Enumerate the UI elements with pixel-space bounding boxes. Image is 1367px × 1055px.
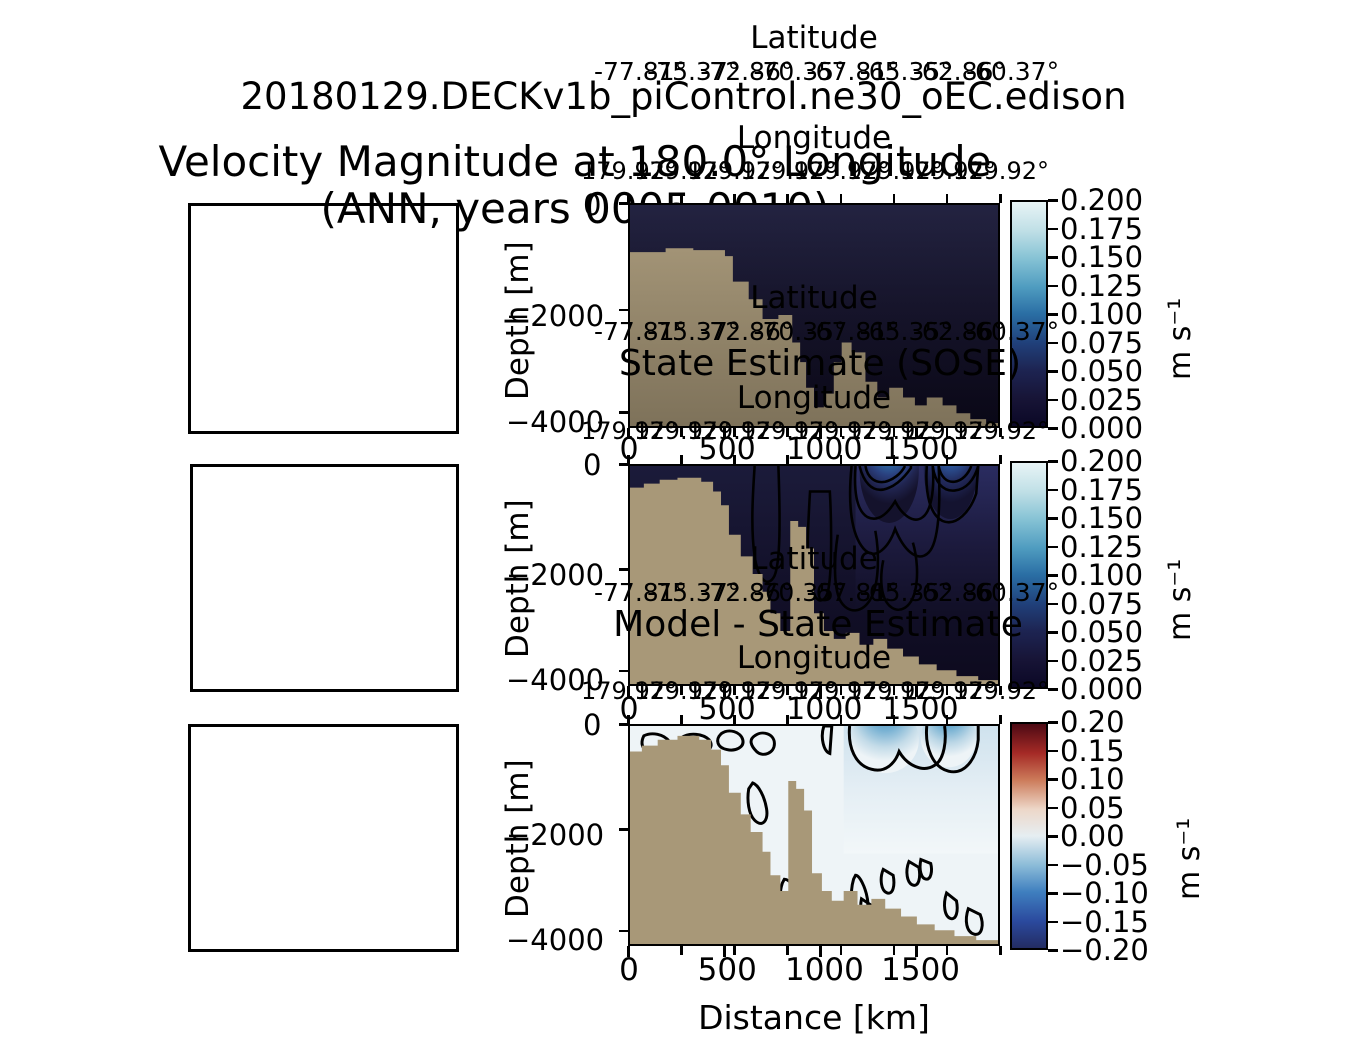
colorbar-tick-label: 0.150 xyxy=(1060,240,1143,274)
tick-mark xyxy=(999,946,1002,955)
colorbar-tick xyxy=(1048,489,1058,492)
panel1-longitude-axis-label: Longitude xyxy=(628,120,1000,156)
colorbar-tick xyxy=(1048,807,1058,810)
left-placeholder-box-3 xyxy=(188,724,459,952)
colorbar-tick-label: 0.025 xyxy=(1060,383,1143,417)
tick-label: 179.92° xyxy=(953,157,1049,185)
colorbar-model-unit: m s⁻¹ xyxy=(1163,298,1198,380)
tick-mark xyxy=(999,715,1002,724)
panel2-longitude-axis-label: Longitude xyxy=(628,380,1000,416)
panel3-depth-axis-label: Depth [m] xyxy=(500,759,536,918)
panel-state-estimate-title: State Estimate (SOSE) xyxy=(560,343,1080,384)
tick-label: -60.37° xyxy=(966,578,1059,607)
colorbar-tick-label: 0.000 xyxy=(1060,411,1143,445)
tick-label: 179.92° xyxy=(953,677,1049,705)
tick-mark xyxy=(680,455,683,464)
colorbar-tick-label: −0.20 xyxy=(1060,933,1149,967)
tick-mark xyxy=(619,930,628,933)
colorbar-tick-label: 0.125 xyxy=(1060,269,1143,303)
panel3-ytick-0: 0 xyxy=(583,708,601,742)
colorbar-tick-label: 0.15 xyxy=(1060,734,1125,768)
colorbar-state-estimate[interactable] xyxy=(1010,461,1048,689)
colorbar-tick-label: −0.15 xyxy=(1060,905,1149,939)
colorbar-tick xyxy=(1048,778,1058,781)
panel2-longitude-ticklabels: 179.92°179.92°179.92°179.92°179.92°179.9… xyxy=(628,417,1000,445)
colorbar-tick-label: 0.00 xyxy=(1060,819,1125,853)
colorbar-tick-label: −0.10 xyxy=(1060,876,1149,910)
colorbar-tick xyxy=(1048,949,1058,952)
panel1-latitude-ticklabels: -77.81°-75.37°-72.86°-70.35°-67.81°-65.3… xyxy=(628,57,1000,89)
colorbar-tick xyxy=(1048,285,1058,288)
colorbar-tick-label: 0.000 xyxy=(1060,672,1143,706)
tick-mark xyxy=(999,455,1002,464)
colorbar-tick-label: 0.125 xyxy=(1060,530,1143,564)
tick-label: 179.92° xyxy=(953,417,1049,445)
panel2-latitude-axis-label: Latitude xyxy=(628,280,1000,316)
panel-difference-title: Model - State Estimate xyxy=(558,604,1078,645)
colorbar-tick xyxy=(1048,399,1058,402)
colorbar-state-estimate-unit: m s⁻¹ xyxy=(1163,559,1198,641)
tick-mark xyxy=(619,411,628,414)
colorbar-tick-label: 0.150 xyxy=(1060,501,1143,535)
colorbar-tick-label: 0.100 xyxy=(1060,558,1143,592)
colorbar-tick-label: 0.175 xyxy=(1060,473,1143,507)
panel1-ytick-0: 0 xyxy=(583,188,601,222)
colorbar-tick xyxy=(1048,427,1058,430)
panel2-depth-axis-label: Depth [m] xyxy=(500,499,536,658)
colorbar-difference-unit: m s⁻¹ xyxy=(1172,818,1207,900)
panel-difference-bathymetry xyxy=(630,726,998,944)
panel1-longitude-ticklabels: 179.92°179.92°179.92°179.92°179.92°179.9… xyxy=(628,157,1000,185)
left-placeholder-box-2 xyxy=(190,464,459,692)
colorbar-tick xyxy=(1048,313,1058,316)
distance-axis-label: Distance [km] xyxy=(628,998,1000,1037)
colorbar-tick-label: 0.100 xyxy=(1060,297,1143,331)
colorbar-tick xyxy=(1048,921,1058,924)
colorbar-tick xyxy=(1048,688,1058,691)
colorbar-model[interactable] xyxy=(1010,200,1048,428)
colorbar-tick xyxy=(1048,660,1058,663)
colorbar-tick xyxy=(1048,517,1058,520)
panel-difference-axes[interactable] xyxy=(628,724,1000,946)
colorbar-tick xyxy=(1048,460,1058,463)
colorbar-tick-label: 0.05 xyxy=(1060,791,1125,825)
colorbar-tick-label: 0.025 xyxy=(1060,644,1143,678)
distance-tick-label: 500 xyxy=(698,952,757,988)
colorbar-tick xyxy=(1048,892,1058,895)
panel2-ytick-0: 0 xyxy=(583,448,601,482)
panel1-latitude-axis-label: Latitude xyxy=(628,20,1000,56)
tick-label: -60.37° xyxy=(966,317,1059,346)
tick-mark xyxy=(619,568,628,571)
tick-mark xyxy=(619,828,628,831)
tick-mark xyxy=(619,309,628,312)
colorbar-tick xyxy=(1048,574,1058,577)
panel3-longitude-ticklabels: 179.92°179.92°179.92°179.92°179.92°179.9… xyxy=(628,677,1000,705)
distance-tick-label: 0 xyxy=(619,952,639,988)
left-placeholder-box-1 xyxy=(188,203,459,434)
colorbar-tick-label: 0.20 xyxy=(1060,705,1125,739)
panel3-latitude-axis-label: Latitude xyxy=(628,541,1000,577)
tick-label: -60.37° xyxy=(966,57,1059,86)
colorbar-tick-label: 0.10 xyxy=(1060,762,1125,796)
colorbar-tick xyxy=(1048,835,1058,838)
colorbar-tick xyxy=(1048,750,1058,753)
colorbar-difference[interactable] xyxy=(1010,722,1048,950)
colorbar-tick xyxy=(1048,864,1058,867)
tick-mark xyxy=(619,670,628,673)
colorbar-tick-label: 0.200 xyxy=(1060,444,1143,478)
panel1-depth-axis-label: Depth [m] xyxy=(500,241,536,400)
tick-mark xyxy=(680,715,683,724)
colorbar-tick xyxy=(1048,256,1058,259)
panel3-longitude-axis-label: Longitude xyxy=(628,640,1000,676)
panel3-ytick-4000: −4000 xyxy=(506,923,604,957)
colorbar-tick-label: −0.05 xyxy=(1060,848,1149,882)
distance-tick-label: 1500 xyxy=(881,952,960,988)
tick-mark xyxy=(680,946,683,955)
colorbar-tick xyxy=(1048,721,1058,724)
colorbar-tick xyxy=(1048,546,1058,549)
distance-tick-label: 1000 xyxy=(785,952,864,988)
